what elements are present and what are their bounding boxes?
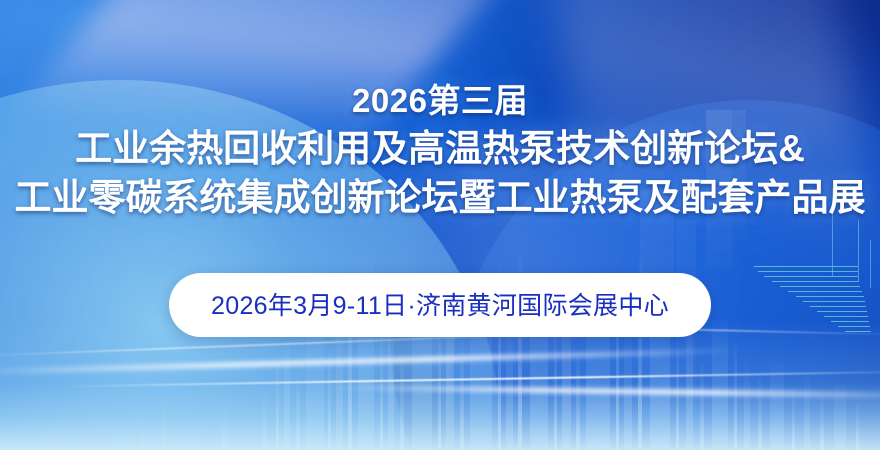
title-line-1: 2026第三届 — [0, 84, 880, 117]
title-line-3: 工业零碳系统集成创新论坛暨工业热泵及配套产品展 — [0, 179, 880, 216]
event-date-venue-text: 2026年3月9-11日·济南黄河国际会展中心 — [211, 286, 669, 322]
event-title-block: 2026第三届 工业余热回收利用及高温热泵技术创新论坛& 工业零碳系统集成创新论… — [0, 84, 880, 216]
banner-content: 2026第三届 工业余热回收利用及高温热泵技术创新论坛& 工业零碳系统集成创新论… — [0, 0, 880, 450]
event-banner: 2026第三届 工业余热回收利用及高温热泵技术创新论坛& 工业零碳系统集成创新论… — [0, 0, 880, 450]
event-info-pill: 2026年3月9-11日·济南黄河国际会展中心 — [169, 273, 711, 337]
title-line-2: 工业余热回收利用及高温热泵技术创新论坛& — [0, 130, 880, 167]
